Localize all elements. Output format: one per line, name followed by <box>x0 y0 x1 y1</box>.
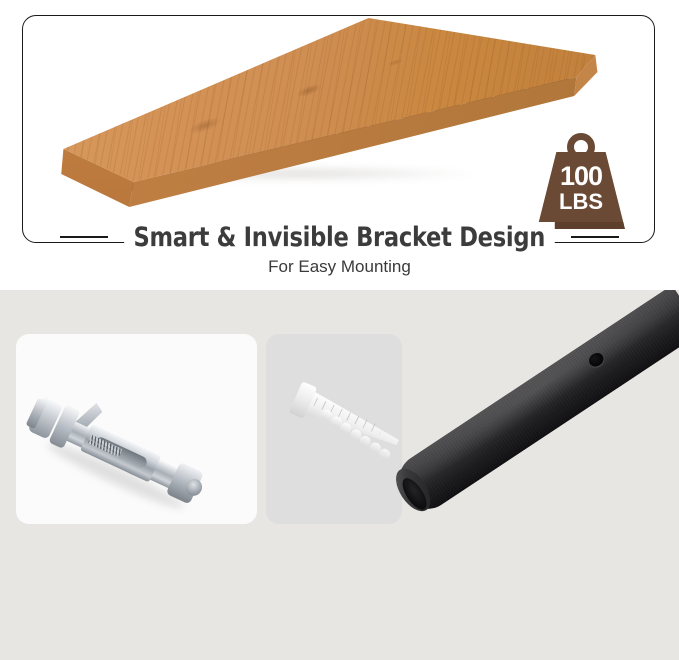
pipe-texture <box>389 290 679 519</box>
shelf-board <box>58 14 598 214</box>
title-rule-right <box>571 236 619 238</box>
wood-knot-icon <box>387 57 404 67</box>
page-subtitle: For Easy Mounting <box>0 257 679 277</box>
weight-capacity-badge: 100 LBS <box>533 133 629 233</box>
top-feature-panel: 100 LBS Smart & Invisible Bracket Design… <box>0 0 679 290</box>
weight-value: 100 <box>533 163 629 190</box>
title-rule-left <box>60 236 108 238</box>
bottom-feature-panel: VS Upgrade Metal Anchors heavy-duty Made… <box>0 290 679 660</box>
weight-unit: LBS <box>533 191 629 213</box>
page-title: Smart & Invisible Bracket Design <box>124 222 554 253</box>
iron-pipe-illustration <box>388 290 679 590</box>
product-feature-image: 100 LBS Smart & Invisible Bracket Design… <box>0 0 679 660</box>
iron-pipe-body <box>389 290 679 519</box>
title-row: Smart & Invisible Bracket Design <box>0 219 679 255</box>
wood-knot-icon <box>187 115 223 137</box>
wood-knot-icon <box>295 82 323 99</box>
wood-shelf-illustration <box>58 14 598 214</box>
